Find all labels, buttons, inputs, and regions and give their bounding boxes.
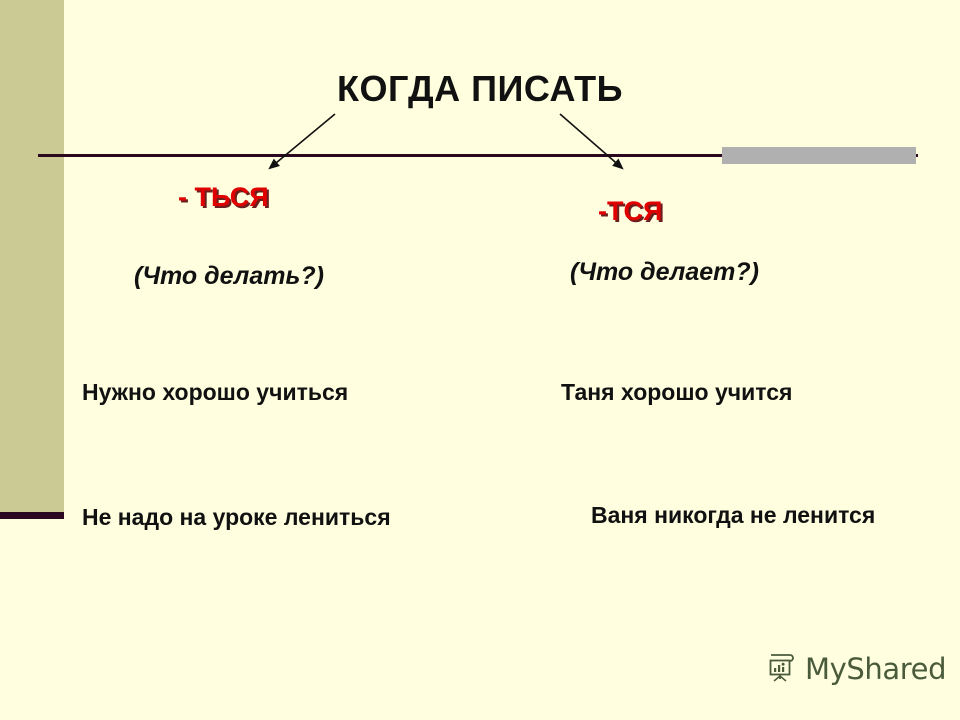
slide-canvas: КОГДА ПИСАТЬ - ТЬСЯ -ТСЯ (Что делать?) (… <box>0 0 960 720</box>
page-title: КОГДА ПИСАТЬ <box>0 68 960 110</box>
example-right-second: Ваня никогда не ленится <box>591 495 891 535</box>
divider-accent-bar <box>722 147 916 164</box>
question-prompt-right: (Что делает?) <box>570 258 759 287</box>
example-right-first: Таня хорошо учится <box>561 379 792 406</box>
watermark-label: MyShared <box>805 652 946 686</box>
presentation-board-icon <box>764 652 798 686</box>
suffix-label-tsya-soft: - ТЬСЯ <box>178 182 269 213</box>
sidebar-underline-accent <box>0 512 64 519</box>
suffix-label-tsya-hard: -ТСЯ <box>598 196 662 227</box>
example-left-second: Не надо на уроке лениться <box>82 490 412 545</box>
watermark: MyShared <box>764 652 946 686</box>
example-left-first: Нужно хорошо учиться <box>82 379 348 406</box>
question-prompt-left: (Что делать?) <box>134 262 324 291</box>
